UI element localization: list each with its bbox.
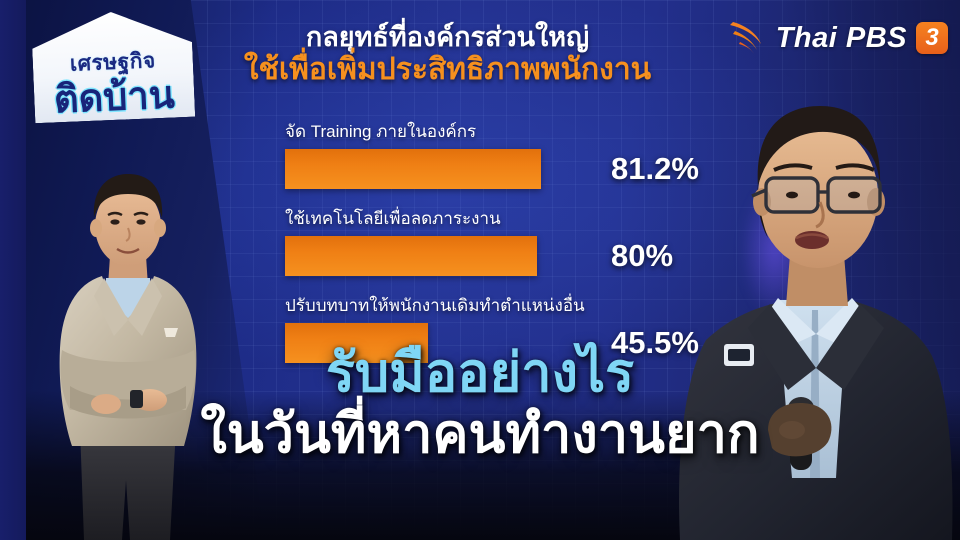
headline: กลยุทธ์ที่องค์กรส่วนใหญ่ ใช้เพื่อเพิ่มปร… <box>215 22 680 88</box>
guest-speaker <box>640 78 960 540</box>
headline-line1: กลยุทธ์ที่องค์กรส่วนใหญ่ <box>215 22 680 52</box>
channel-logo: Thai PBS 3 <box>727 18 948 58</box>
bar-fill <box>285 236 537 276</box>
lower-third-line2: ในวันที่หาคนทำงานยาก <box>0 407 960 462</box>
program-logo: เศรษฐกิจ ติดบ้าน <box>31 9 195 124</box>
thaipbs-bird-icon <box>727 20 767 56</box>
broadcast-screen: เศรษฐกิจ ติดบ้าน Thai PBS 3 กลยุทธ์ที่อง… <box>0 0 960 540</box>
bar-track <box>285 236 600 276</box>
channel-wordmark: Thai PBS <box>776 22 907 55</box>
channel-number-badge: 3 <box>916 22 948 54</box>
lower-third-line1: รับมืออย่างไร <box>0 346 960 401</box>
bar-track <box>285 149 600 189</box>
lower-third: รับมืออย่างไร ในวันที่หาคนทำงานยาก <box>0 346 960 462</box>
program-logo-line2: ติดบ้าน <box>33 63 195 131</box>
headline-line2: ใช้เพื่อเพิ่มประสิทธิภาพพนักงาน <box>215 53 680 88</box>
bar-fill <box>285 149 541 189</box>
